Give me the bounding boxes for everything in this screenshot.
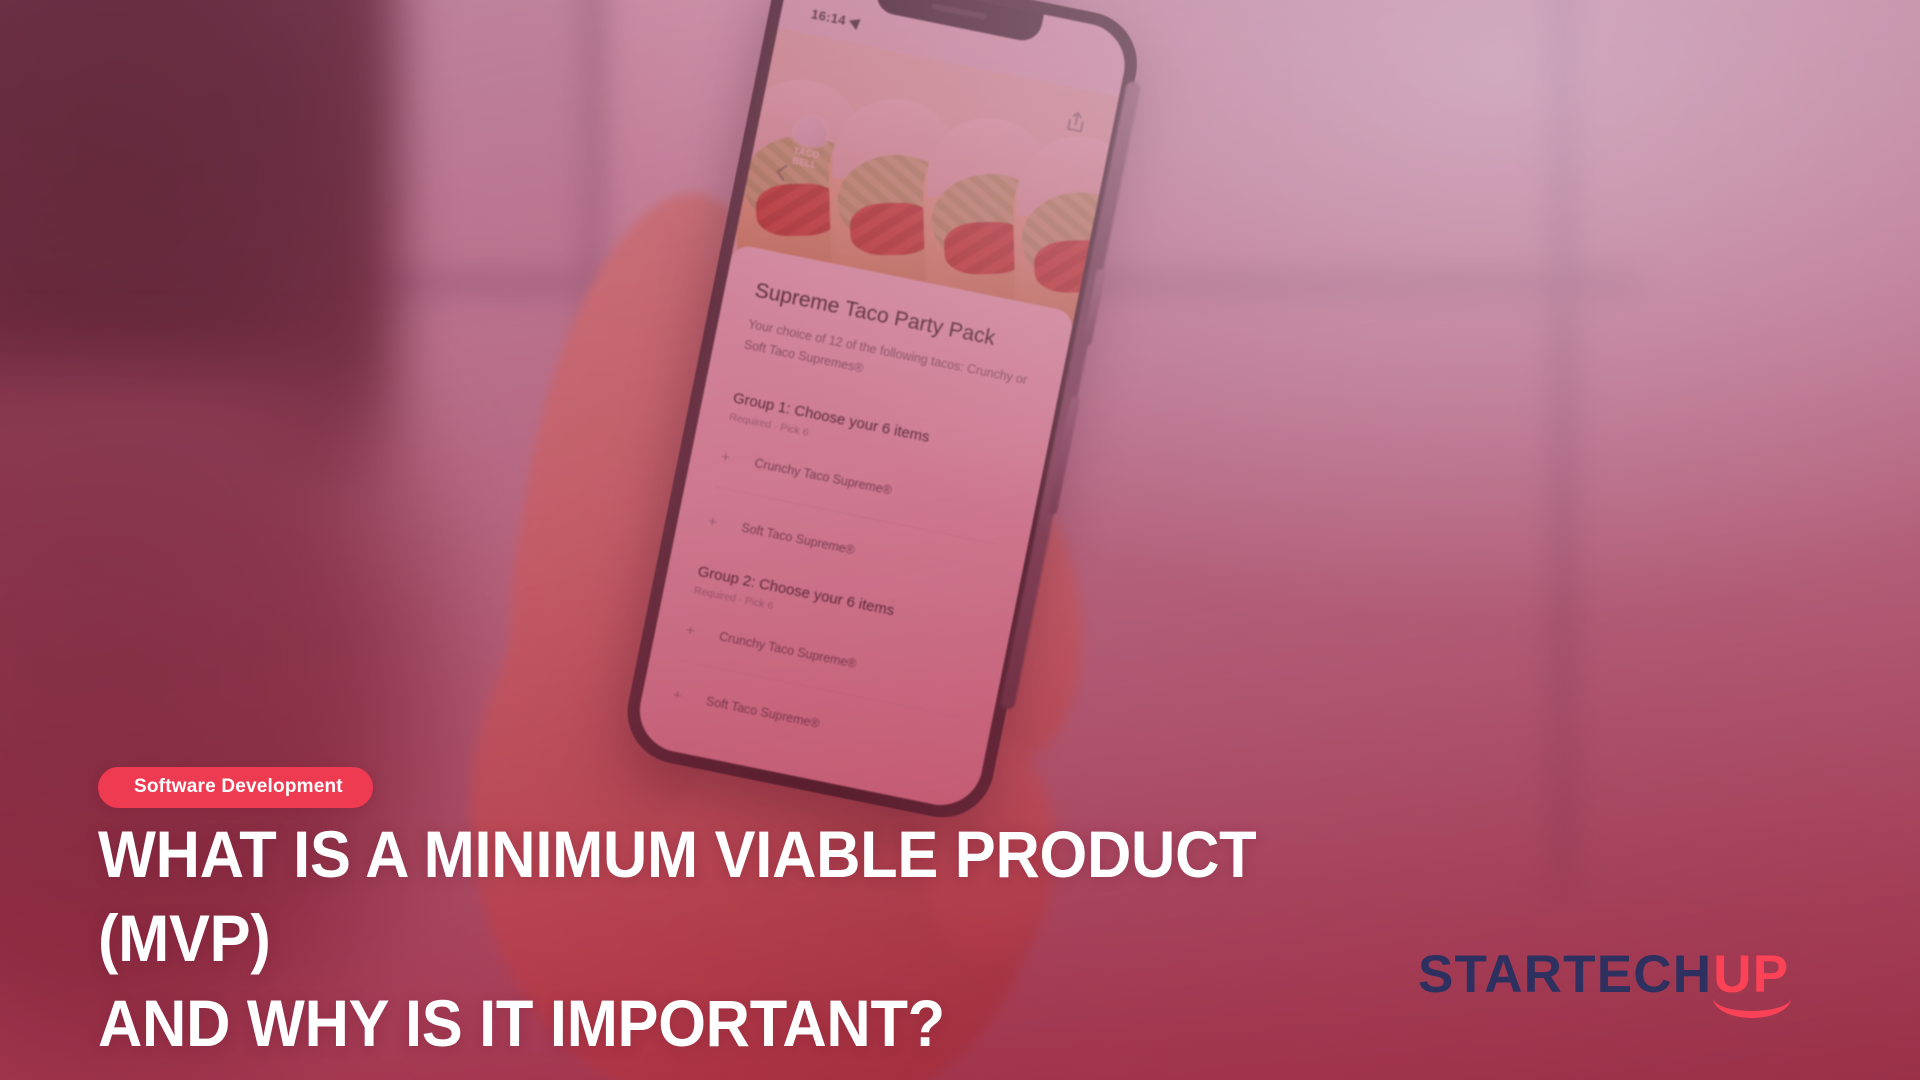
page-title-line-1: WHAT IS A MINIMUM VIABLE PRODUCT (MVP)	[98, 817, 1256, 975]
logo-primary-text: STARTECH	[1418, 948, 1712, 1001]
category-badge[interactable]: Software Development	[98, 767, 373, 808]
startechup-logo[interactable]: STARTECH UP	[1418, 948, 1789, 1001]
page-title: WHAT IS A MINIMUM VIABLE PRODUCT (MVP) A…	[98, 812, 1428, 1065]
banner-stage: TACO BELL 16:14	[0, 0, 1920, 1080]
page-title-line-2: AND WHY IS IT IMPORTANT?	[98, 981, 1428, 1065]
logo-accent-text: UP	[1713, 945, 1789, 1004]
